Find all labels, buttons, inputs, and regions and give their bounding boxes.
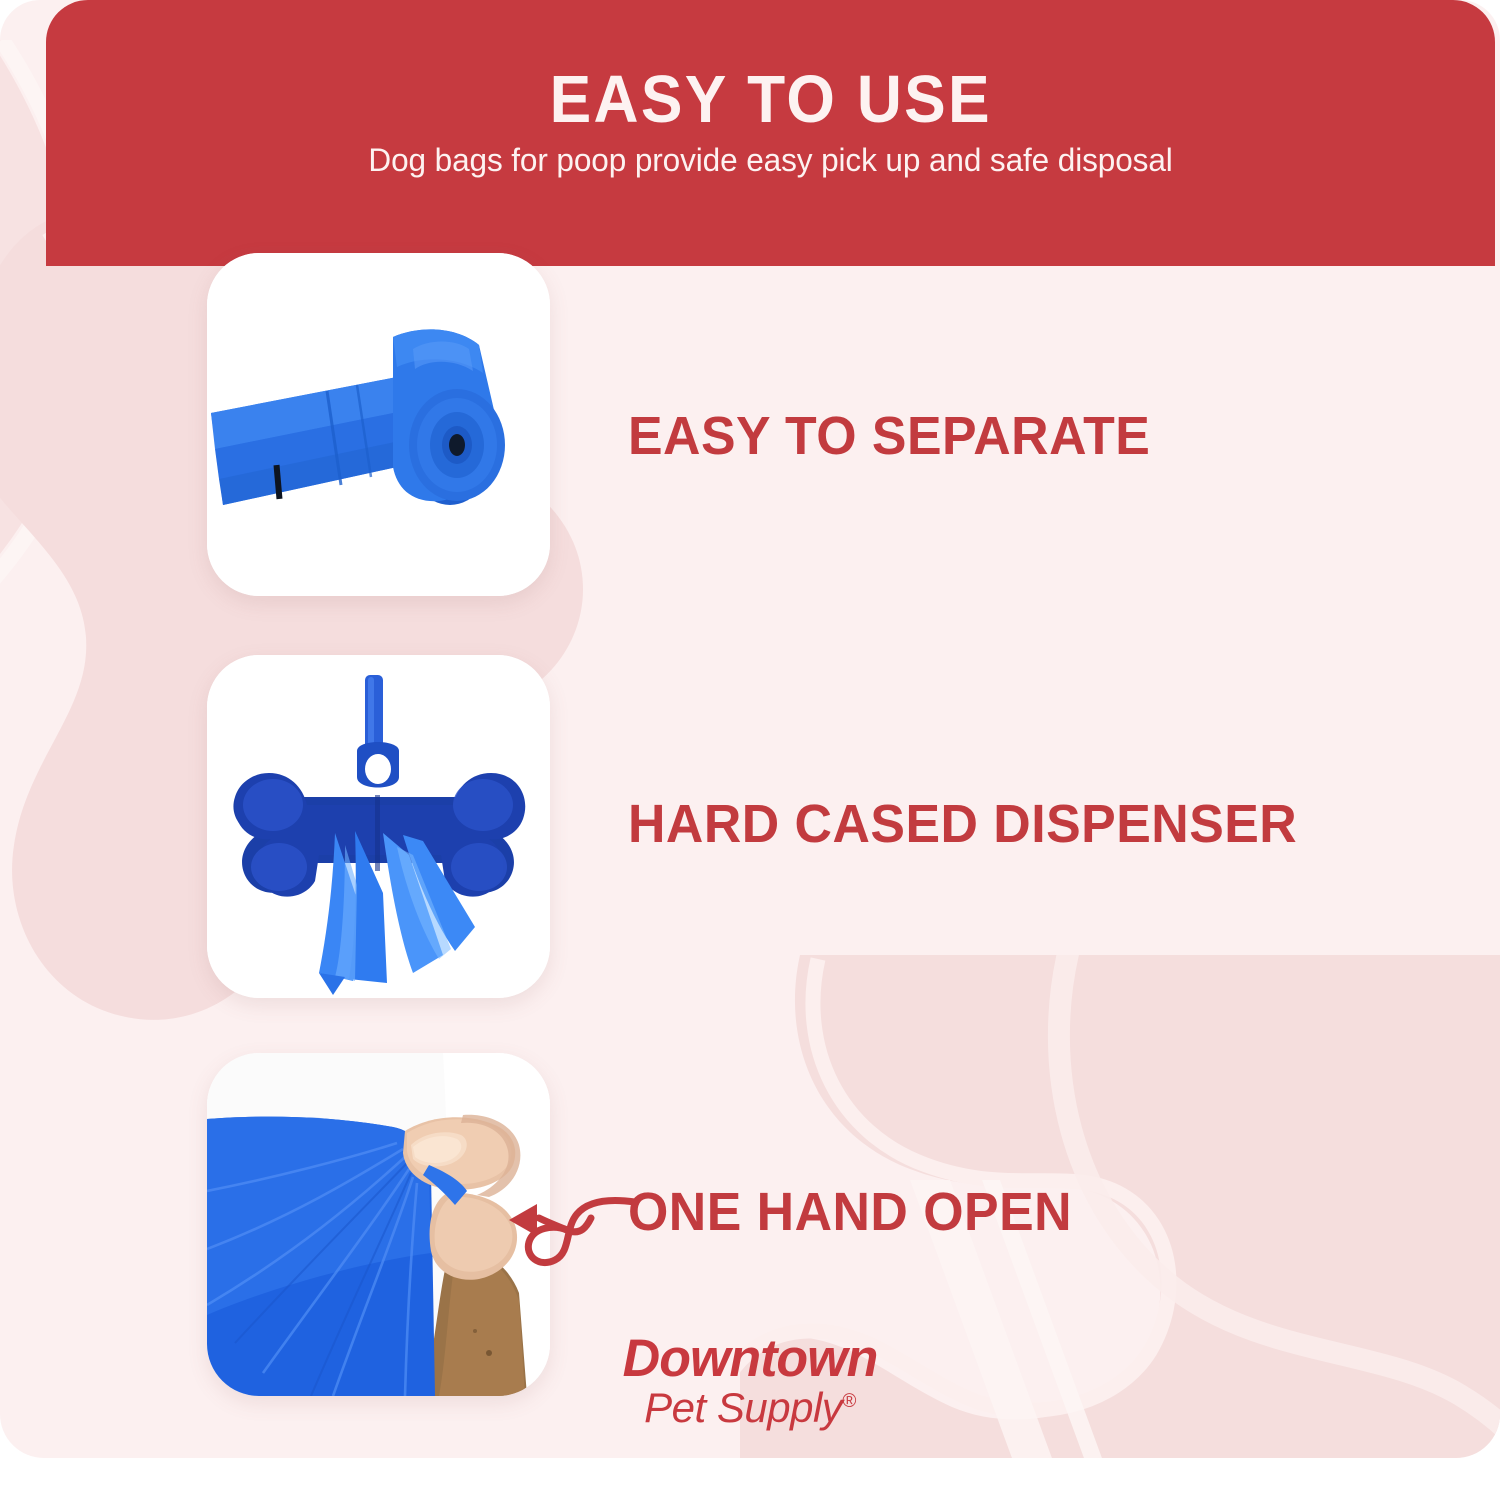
brand-name-line2-text: Pet Supply <box>644 1384 842 1431</box>
feature-image-card-1[interactable] <box>207 253 550 596</box>
header-banner: EASY TO USE Dog bags for poop provide ea… <box>46 0 1495 266</box>
brand-name-line2: Pet Supply® <box>560 1387 940 1429</box>
brand-logo: Downtown Pet Supply® <box>560 1332 940 1429</box>
registered-trademark-mark: ® <box>842 1391 856 1412</box>
brand-name-line1: Downtown <box>564 1332 936 1385</box>
infographic-canvas: EASY TO USE Dog bags for poop provide ea… <box>0 0 1500 1500</box>
feature-label-one-hand-open: ONE HAND OPEN <box>628 1185 1072 1239</box>
feature-label-hard-cased-dispenser: HARD CASED DISPENSER <box>628 797 1297 851</box>
feature-label-easy-to-separate: EASY TO SEPARATE <box>628 409 1150 463</box>
roll-of-blue-poop-bags-photo <box>207 253 550 596</box>
page-title: EASY TO USE <box>549 65 991 135</box>
feature-image-card-2[interactable] <box>207 655 550 998</box>
curly-arrow-pointing-left-icon <box>495 1168 645 1276</box>
bone-shaped-dispenser-photo <box>207 655 550 998</box>
page-subtitle: Dog bags for poop provide easy pick up a… <box>368 143 1172 179</box>
